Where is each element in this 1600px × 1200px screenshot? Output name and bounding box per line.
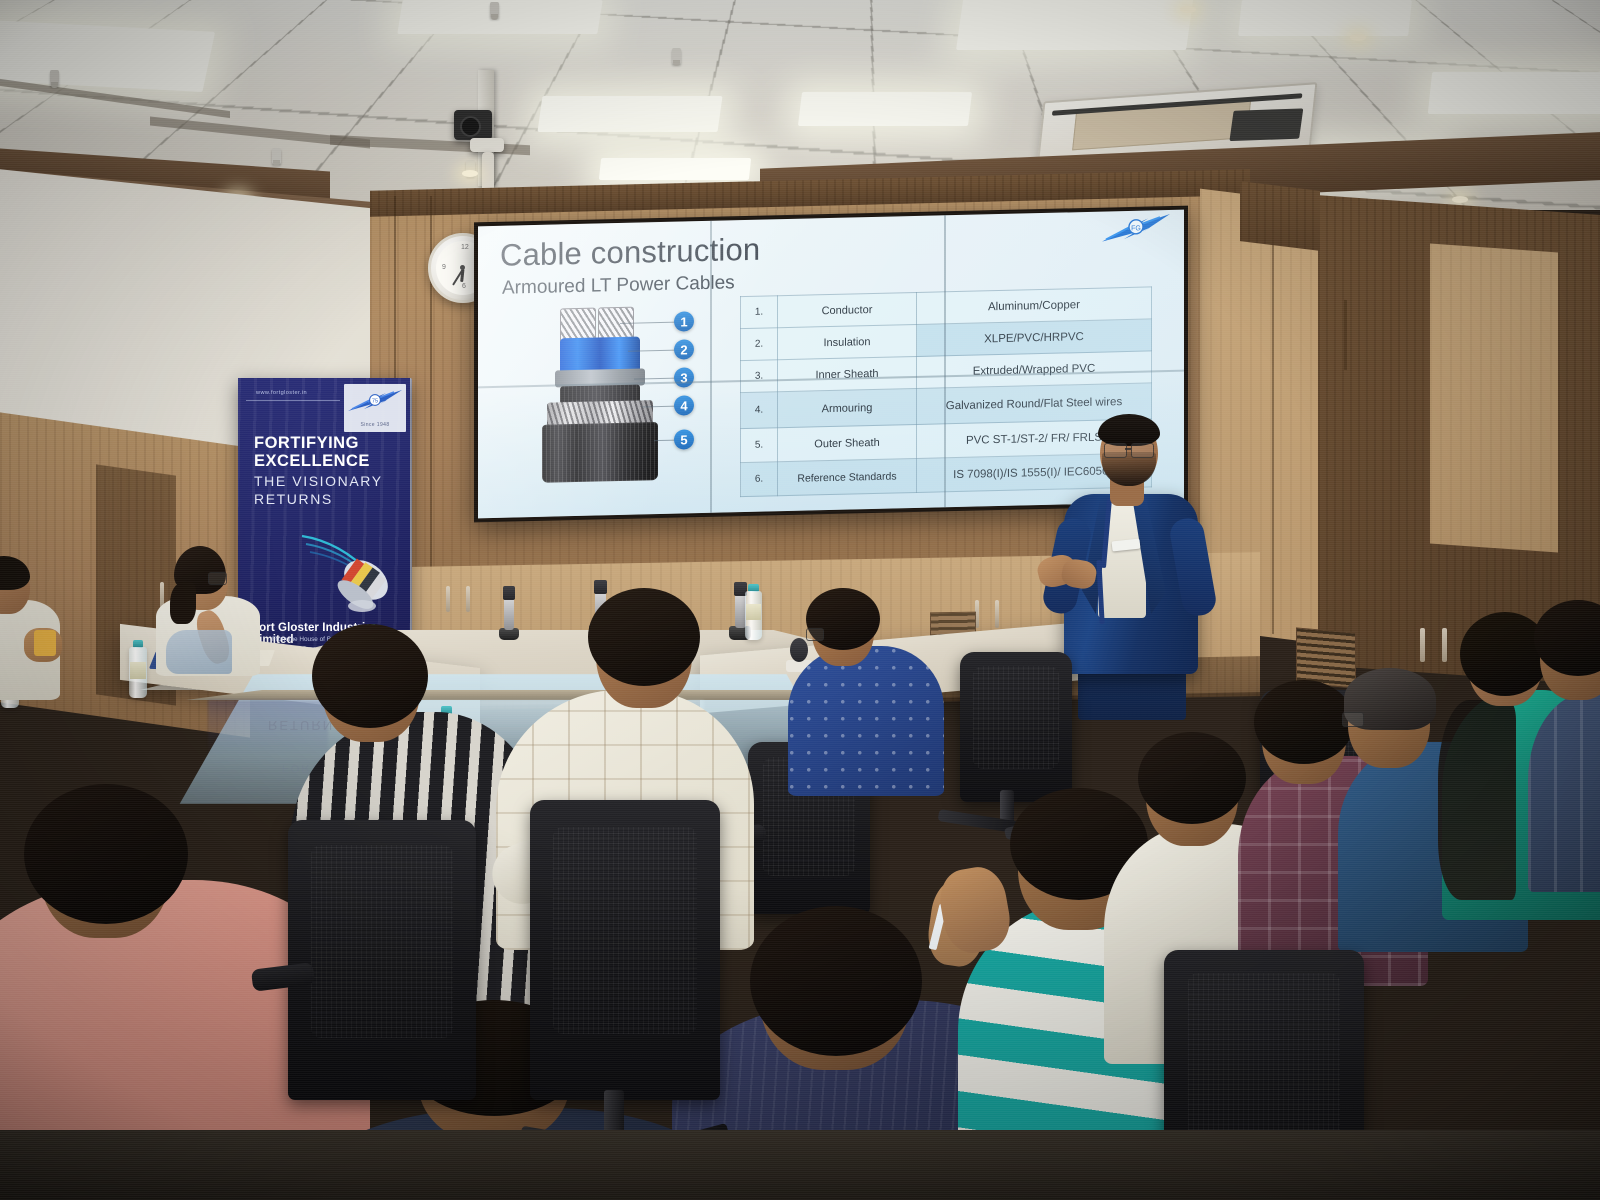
person-hair (24, 784, 188, 924)
office-chair[interactable] (288, 820, 476, 1100)
projector-bracket (470, 138, 504, 152)
person-hair (750, 906, 922, 1056)
banner-headline-1: FORTIFYING (254, 434, 359, 452)
cabinet-handle (995, 600, 999, 628)
video-wall-screen[interactable]: Cable construction Armoured LT Power Cab… (478, 210, 1184, 519)
row-number: 4. (741, 392, 778, 429)
cable-cross-section-illustration (534, 306, 666, 485)
right-wall-far (1240, 181, 1320, 251)
cable-callout-2: 2 (674, 339, 694, 359)
ceiling-light-panel (1428, 72, 1600, 114)
office-chair[interactable] (960, 652, 1072, 802)
bottle-label (746, 604, 761, 620)
person-sari-drape (1438, 700, 1516, 900)
water-bottle[interactable] (744, 584, 763, 640)
banner-cable-artwork (300, 510, 410, 620)
mic-body (504, 596, 514, 630)
presenter-glasses (1104, 443, 1127, 458)
row-number: 1. (741, 296, 778, 329)
sprinkler-head (490, 2, 499, 18)
chair-mesh-back (1188, 973, 1340, 1146)
person-torso (788, 646, 944, 796)
cabinet-handle (466, 586, 470, 612)
sprinkler-head (672, 48, 681, 64)
meeting-room-photo: 12 3 6 9 Cable construction Armoured LT … (0, 0, 1600, 1200)
banner-url-rule (246, 400, 340, 401)
chair-mesh-back (311, 845, 454, 1038)
banner-logo-since: Since 1948 (344, 422, 406, 428)
ac-vent-slot (1229, 108, 1303, 141)
cabinet-handle (446, 586, 450, 612)
cabinet-door-seam (1344, 300, 1347, 370)
clock-tick-6: 6 (462, 283, 466, 290)
recessed-downlight (1180, 6, 1196, 13)
floor (0, 1130, 1600, 1200)
fort-gloster-bolt-logo: FG (1098, 212, 1174, 248)
person-hair (1138, 732, 1246, 824)
cable-callout-1: 1 (674, 311, 694, 331)
row-layer: Reference Standards (778, 458, 917, 495)
right-wall-panel-insert (1430, 244, 1558, 553)
bottle-label (130, 662, 146, 679)
cable-outer-sheath-layer (542, 422, 658, 483)
person-glasses (1342, 712, 1364, 727)
ceiling-light-panel (537, 96, 722, 132)
row-layer: Conductor (778, 292, 917, 327)
desk-microphone[interactable] (498, 586, 520, 640)
person-hair-tie-back (170, 582, 196, 624)
mic-capsule (790, 638, 808, 662)
row-number: 3. (741, 360, 778, 393)
fort-gloster-logo: 75 (344, 387, 406, 421)
person-hair (312, 624, 428, 728)
cable-callout-4: 4 (674, 395, 694, 415)
row-layer: Outer Sheath (778, 424, 917, 461)
person-held-object[interactable] (34, 630, 56, 656)
slide-subtitle: Armoured LT Power Cables (502, 272, 735, 299)
cable-callout-3: 3 (674, 367, 694, 387)
mic-capsule (594, 580, 607, 594)
water-bottle[interactable] (128, 640, 148, 698)
office-chair[interactable] (530, 800, 720, 1100)
projector-lens (460, 116, 481, 137)
sprinkler-head (50, 70, 59, 86)
recessed-downlight (1452, 196, 1468, 203)
person-hair (588, 588, 700, 686)
svg-text:75: 75 (372, 399, 378, 405)
banner-headline-2: EXCELLENCE (254, 452, 370, 470)
cabinet-handle (1420, 628, 1425, 662)
chair-mesh-back (553, 827, 697, 1034)
presenter-glasses (1131, 443, 1154, 458)
slide-title: Cable construction (500, 232, 760, 274)
person-hair (1254, 680, 1354, 764)
banner-headline-4: RETURNS (254, 491, 333, 507)
ceiling-light-panel (0, 20, 215, 92)
clock-tick-12: 12 (461, 244, 469, 251)
ceiling-light-panel (397, 0, 602, 34)
clock-center-pin (460, 265, 465, 270)
recessed-downlight (462, 170, 478, 177)
row-number: 2. (741, 328, 778, 361)
cable-callout-5: 5 (674, 429, 694, 449)
person-glasses (208, 572, 227, 585)
row-layer: Armouring (778, 388, 917, 427)
glasses-bridge (1125, 448, 1131, 450)
cabinet-handle (1442, 628, 1447, 662)
cabinet-door-seam (1272, 204, 1274, 634)
ceiling-light-panel (956, 0, 1194, 50)
recessed-downlight (1350, 34, 1366, 41)
person-scarf (166, 630, 232, 674)
row-layer: Insulation (778, 324, 917, 359)
svg-text:FG: FG (1131, 225, 1141, 232)
banner-headline-3: THE VISIONARY (254, 473, 383, 489)
roll-up-banner: 75 Since 1948 www.fortgloster.in FORTIFY… (238, 378, 410, 662)
row-number: 5. (741, 428, 778, 463)
ceiling-light-panel (798, 92, 972, 126)
video-wall-seam-vertical (944, 215, 946, 507)
cable-spec-table: 1. Conductor Aluminum/Copper 2. Insulati… (740, 286, 1152, 497)
ceiling-light-panel (1238, 0, 1412, 36)
row-number: 6. (741, 462, 778, 497)
cable-insulation-layer (560, 337, 640, 373)
banner-logo-panel: 75 Since 1948 (344, 384, 406, 432)
sprinkler-head (272, 148, 281, 164)
clock-tick-9: 9 (442, 264, 446, 271)
presenter-hair (1098, 414, 1160, 446)
row-layer: Inner Sheath (778, 356, 917, 391)
ceiling-light-panel (599, 158, 751, 180)
chair-mesh-back (973, 666, 1058, 770)
banner-website-url: www.fortgloster.in (256, 390, 307, 396)
mic-capsule (503, 586, 515, 600)
video-wall-seam-vertical (710, 221, 712, 513)
person-glasses (806, 628, 824, 641)
